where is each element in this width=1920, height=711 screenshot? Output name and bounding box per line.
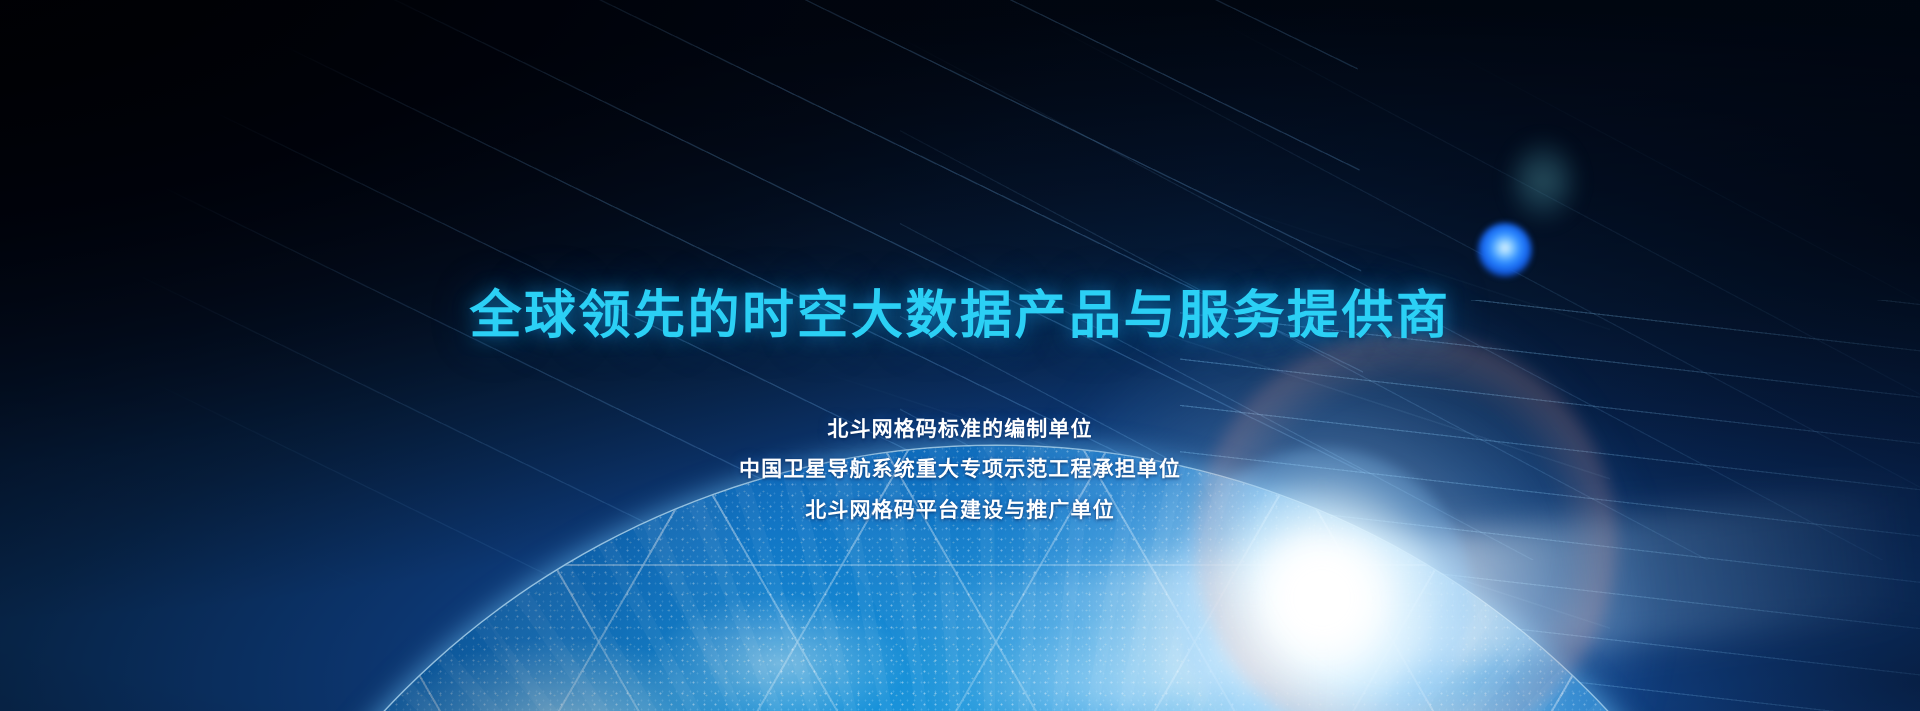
banner-subtitle-line-2: 中国卫星导航系统重大专项示范工程承担单位 <box>739 454 1181 486</box>
hero-banner: 全球领先的时空大数据产品与服务提供商 北斗网格码标准的编制单位 中国卫星导航系统… <box>0 0 1920 711</box>
banner-subtitle-line-3: 北斗网格码平台建设与推广单位 <box>805 495 1114 527</box>
banner-text-block: 全球领先的时空大数据产品与服务提供商 北斗网格码标准的编制单位 中国卫星导航系统… <box>0 0 1920 711</box>
banner-subtitle-line-1: 北斗网格码标准的编制单位 <box>827 414 1092 446</box>
banner-subtitle-list: 北斗网格码标准的编制单位 中国卫星导航系统重大专项示范工程承担单位 北斗网格码平… <box>739 414 1181 527</box>
banner-headline: 全球领先的时空大数据产品与服务提供商 <box>469 287 1450 345</box>
